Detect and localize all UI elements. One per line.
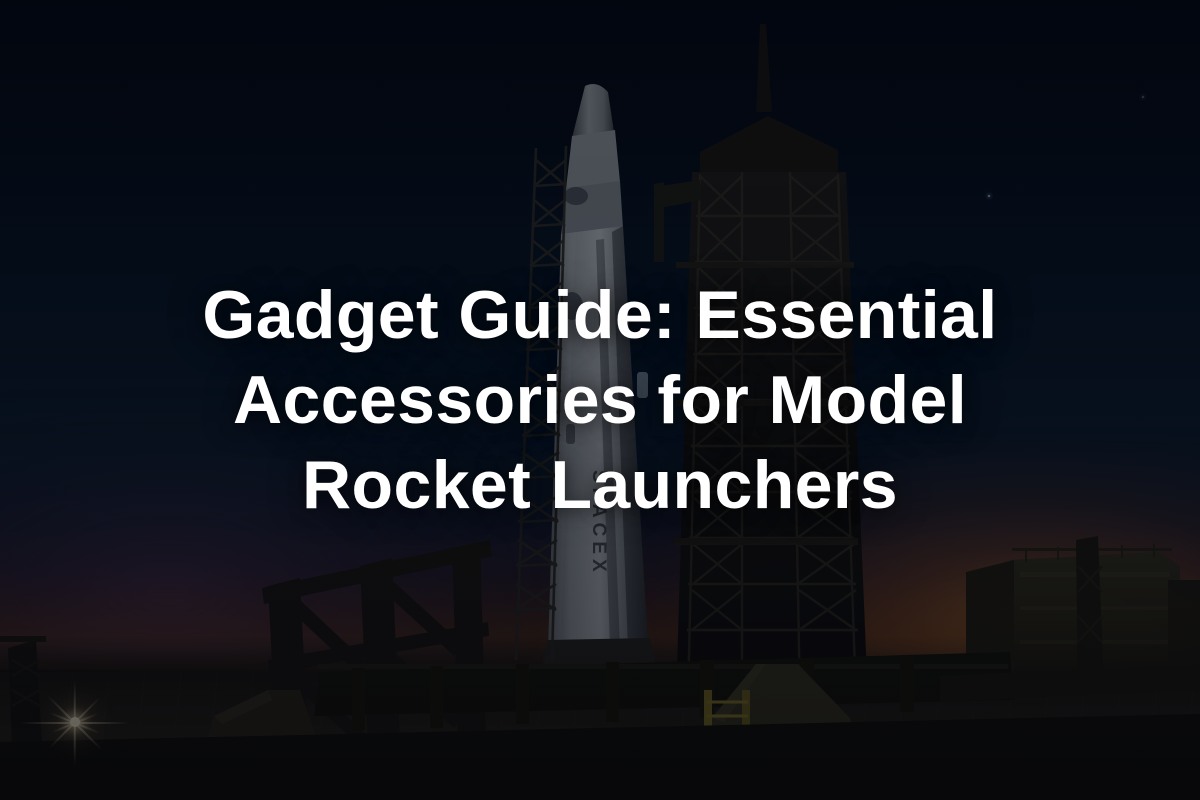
title-line-2: Accessories for Model (233, 362, 967, 438)
page-title: Gadget Guide: Essential Accessories for … (202, 273, 997, 528)
title-line-1: Gadget Guide: Essential (202, 277, 997, 353)
hero-banner: SPACEX (0, 0, 1200, 800)
title-line-3: Rocket Launchers (302, 447, 898, 523)
title-container: Gadget Guide: Essential Accessories for … (0, 0, 1200, 800)
